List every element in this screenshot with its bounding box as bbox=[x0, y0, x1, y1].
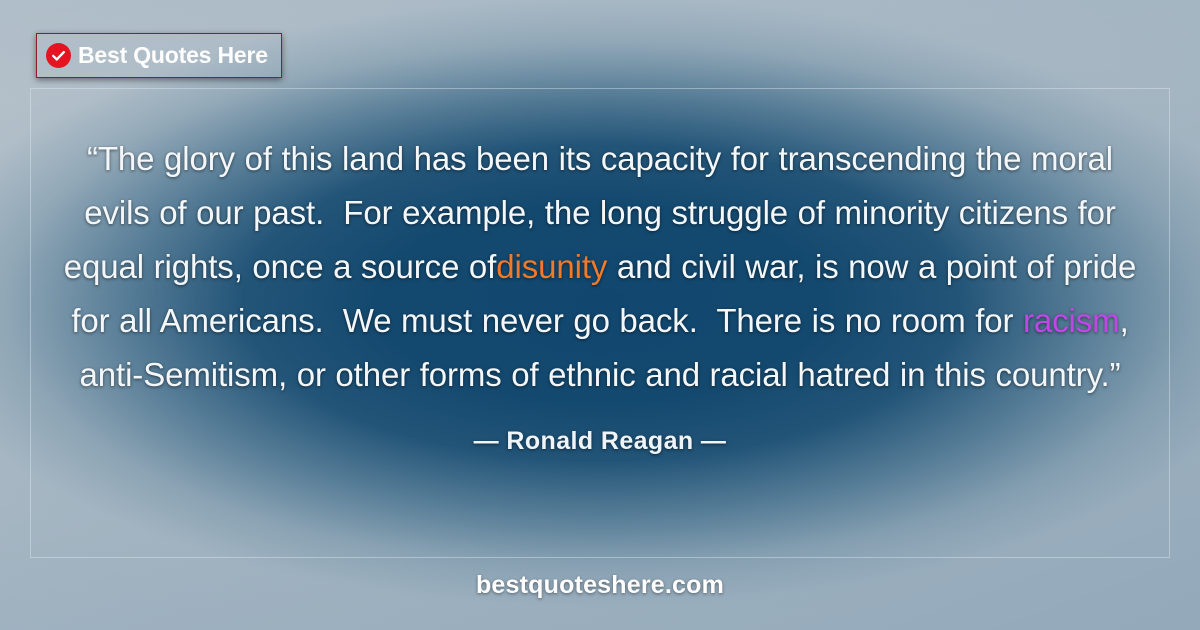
quote-attribution: — Ronald Reagan — bbox=[60, 427, 1140, 456]
check-circle-icon bbox=[46, 43, 71, 68]
quote-highlight-racism: racism bbox=[1023, 302, 1120, 339]
site-url-footer: bestquoteshere.com bbox=[0, 571, 1200, 600]
quote-highlight-disunity: disunity bbox=[496, 248, 607, 285]
quote-block: “The glory of this land has been its cap… bbox=[60, 132, 1140, 456]
quote-card: Best Quotes Here “The glory of this land… bbox=[0, 0, 1200, 630]
brand-badge[interactable]: Best Quotes Here bbox=[36, 33, 282, 78]
quote-text: “The glory of this land has been its cap… bbox=[60, 132, 1140, 402]
brand-name-label: Best Quotes Here bbox=[78, 44, 268, 67]
